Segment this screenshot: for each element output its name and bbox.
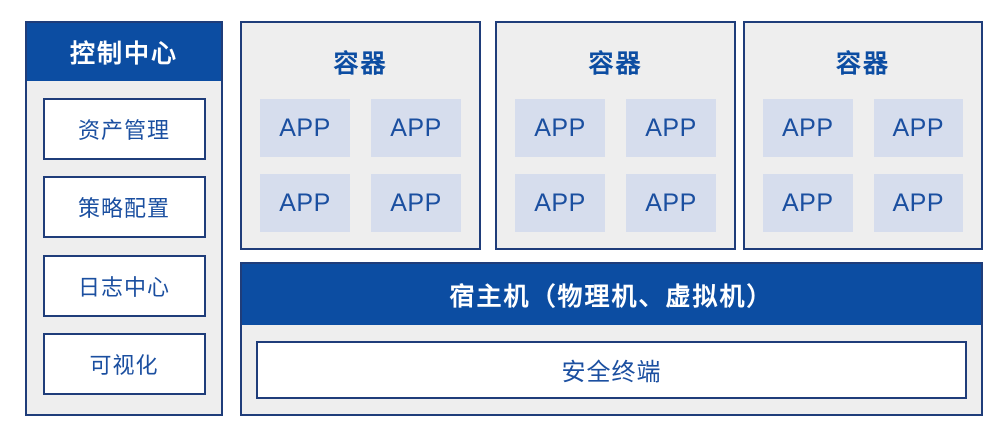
host-machine-body: 安全终端 [242,325,981,414]
container-panel-2: 容器 APP APP APP APP [495,21,736,250]
app-box[interactable]: APP [626,99,716,157]
control-center-item-visualization[interactable]: 可视化 [43,333,206,395]
secure-endpoint-box[interactable]: 安全终端 [256,341,967,399]
app-box[interactable]: APP [260,99,350,157]
app-box[interactable]: APP [515,174,605,232]
container-panel-3: 容器 APP APP APP APP [743,21,983,250]
app-box[interactable]: APP [626,174,716,232]
app-grid: APP APP APP APP [242,99,479,232]
app-box[interactable]: APP [874,174,964,232]
architecture-diagram: 控制中心 资产管理 策略配置 日志中心 可视化 容器 APP APP APP A… [0,0,1001,437]
control-center-panel: 控制中心 资产管理 策略配置 日志中心 可视化 [25,21,223,416]
container-title: 容器 [745,44,981,80]
app-box[interactable]: APP [371,99,461,157]
host-machine-title: 宿主机（物理机、虚拟机） [242,264,981,325]
app-box[interactable]: APP [763,174,853,232]
control-center-item-list: 资产管理 策略配置 日志中心 可视化 [27,81,221,414]
control-center-item-log-center[interactable]: 日志中心 [43,255,206,317]
app-box[interactable]: APP [874,99,964,157]
host-machine-panel: 宿主机（物理机、虚拟机） 安全终端 [240,262,983,416]
container-title: 容器 [497,44,734,80]
control-center-header: 控制中心 [27,23,221,81]
container-panel-1: 容器 APP APP APP APP [240,21,481,250]
app-box[interactable]: APP [515,99,605,157]
app-grid: APP APP APP APP [745,99,981,232]
app-box[interactable]: APP [371,174,461,232]
control-center-item-policy-config[interactable]: 策略配置 [43,176,206,238]
control-center-item-asset-management[interactable]: 资产管理 [43,98,206,160]
container-title: 容器 [242,44,479,80]
app-box[interactable]: APP [260,174,350,232]
app-box[interactable]: APP [763,99,853,157]
app-grid: APP APP APP APP [497,99,734,232]
